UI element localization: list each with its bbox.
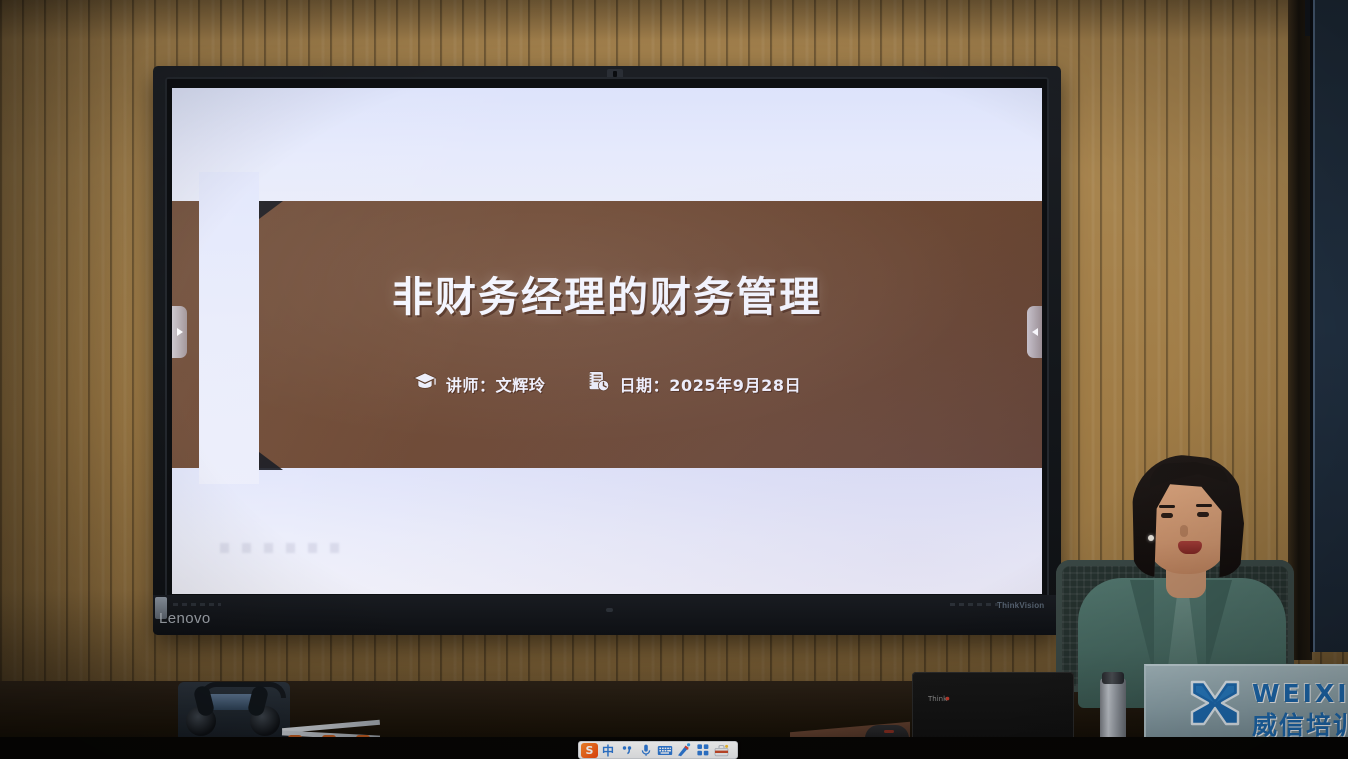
presenter-eye-right (1197, 512, 1209, 517)
slide-meta-row: 讲师：文辉玲 (172, 370, 1042, 397)
apps-grid-icon[interactable] (694, 742, 711, 758)
presenter-mouth (1178, 541, 1202, 554)
slide-band-bottom (172, 468, 1042, 594)
panel-ir-receiver (606, 608, 613, 612)
water-bottle (1100, 678, 1126, 744)
slide-meta-instructor-label: 讲师：文辉玲 (446, 372, 546, 396)
slide-meta-date: 日期：2025年9月28日 (587, 370, 801, 397)
secondary-monitor (1310, 0, 1348, 652)
ime-floating-toolbar[interactable]: S 中 (578, 741, 738, 759)
display-brand-label: Lenovo (159, 610, 211, 627)
board-right-drawer-handle[interactable] (1027, 306, 1042, 358)
screen-artifact (220, 543, 340, 553)
board-left-drawer-handle[interactable] (172, 306, 187, 358)
laptop-logo-icon: Think (928, 690, 950, 699)
laptop[interactable] (912, 672, 1074, 742)
slide-notch-bottom (259, 452, 283, 470)
weixin-w-logo-icon (1188, 676, 1242, 730)
slide-band-top (172, 88, 1042, 201)
svg-text:Think: Think (928, 695, 948, 703)
presenter-lapel-right (1206, 580, 1232, 676)
presenter-eye-left (1161, 513, 1173, 518)
slide-title: 非财务经理的财务管理 (172, 263, 1042, 323)
panel-vent-right (950, 603, 998, 606)
presenter-earring (1148, 535, 1154, 541)
panel-chin (153, 595, 1061, 635)
water-bottle-cap (1102, 672, 1124, 684)
punctuation-icon[interactable] (618, 742, 635, 758)
presenter-lapel-left (1130, 580, 1154, 676)
toolbox-icon[interactable] (713, 742, 730, 758)
slide-meta-instructor: 讲师：文辉玲 (413, 371, 546, 396)
keyboard-icon[interactable] (656, 742, 673, 758)
slide-meta-date-label: 日期：2025年9月28日 (619, 372, 801, 396)
chevron-left-icon (1032, 328, 1038, 336)
graduation-cap-icon (413, 371, 437, 396)
presenter-nose (1180, 525, 1188, 537)
slide-left-accent-bar (199, 172, 259, 484)
screenshot-root: 非财务经理的财务管理 讲师：文辉玲 (0, 0, 1348, 759)
presenter-eyebrow-left (1159, 505, 1175, 508)
microphone-icon[interactable] (637, 742, 654, 758)
chevron-right-icon (177, 328, 183, 336)
magic-wand-icon[interactable] (675, 742, 692, 758)
slide-sheen (172, 201, 1042, 468)
slide-notch-top (259, 201, 283, 219)
wall-pillar (1288, 0, 1312, 660)
sogou-logo-icon[interactable]: S (581, 743, 598, 758)
signage-english-text: WEIXIN (1252, 679, 1348, 708)
mouse-indicator (884, 730, 894, 733)
presentation-screen[interactable]: 非财务经理的财务管理 讲师：文辉玲 (172, 88, 1042, 594)
presenter-eyebrow-right (1196, 504, 1212, 507)
panel-vent-left (173, 603, 221, 606)
calendar-clock-icon (587, 370, 610, 397)
display-sub-brand-label: ThinkVision (997, 601, 1044, 610)
ime-mode-toggle[interactable]: 中 (600, 742, 616, 759)
